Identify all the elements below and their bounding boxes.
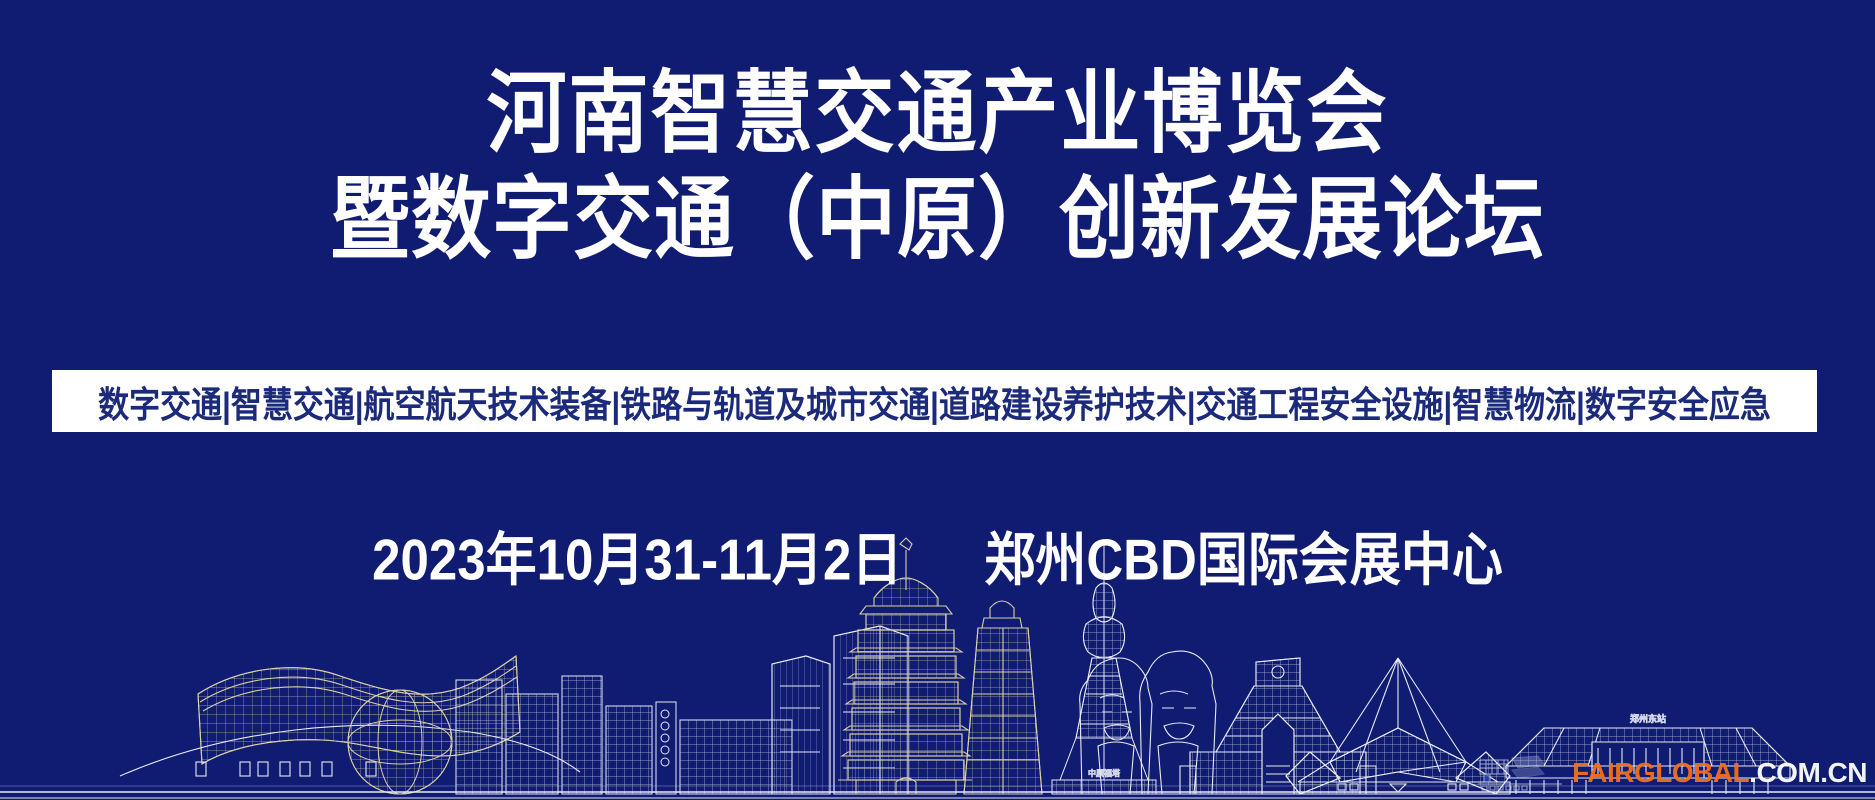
landmark-midrise-towers	[772, 626, 908, 794]
event-date: 2023年10月31-11月2日	[372, 514, 902, 597]
category-list-text: 数字交通|智慧交通|航空航天技术装备|铁路与轨道及城市交通|道路建设养护技术|交…	[98, 375, 1771, 427]
landmark-left-office-blocks	[456, 676, 792, 794]
expo-banner: 河南智慧交通产业博览会 暨数字交通（中原）创新发展论坛 数字交通|智慧交通|航空…	[0, 0, 1875, 800]
event-info-row: 2023年10月31-11月2日 郑州CBD国际会展中心	[0, 518, 1875, 592]
landmark-yellow-emperor-statues	[1080, 651, 1216, 794]
fairglobal-logo-icon	[1478, 754, 1566, 792]
watermark-text: FAIRGLOBAL.COM.CN	[1572, 757, 1867, 789]
svg-text:中原福塔: 中原福塔	[1088, 768, 1120, 778]
landmark-convention-center	[120, 656, 580, 776]
landmark-henan-museum	[1180, 658, 1376, 794]
page-title-line2: 暨数字交通（中原）创新发展论坛	[0, 168, 1875, 271]
page-title-line1: 河南智慧交通产业博览会	[0, 62, 1875, 165]
landmark-greenland-plaza-tower	[964, 601, 1042, 794]
svg-text:郑州东站: 郑州东站	[1630, 713, 1666, 724]
landmark-sphere-dome	[348, 690, 452, 794]
event-venue: 郑州CBD国际会展中心	[984, 514, 1503, 597]
banner-title-block: 河南智慧交通产业博览会 暨数字交通（中原）创新发展论坛	[0, 62, 1875, 260]
landmark-olympic-sports-center	[1286, 658, 1510, 794]
category-bar: 数字交通|智慧交通|航空航天技术装备|铁路与轨道及城市交通|道路建设养护技术|交…	[52, 370, 1817, 432]
watermark-brand: FAIRGLOBAL	[1572, 757, 1749, 788]
watermark-tld: .COM.CN	[1749, 757, 1867, 788]
convention-center-base	[196, 762, 376, 776]
site-watermark: FAIRGLOBAL.COM.CN	[1478, 754, 1867, 792]
